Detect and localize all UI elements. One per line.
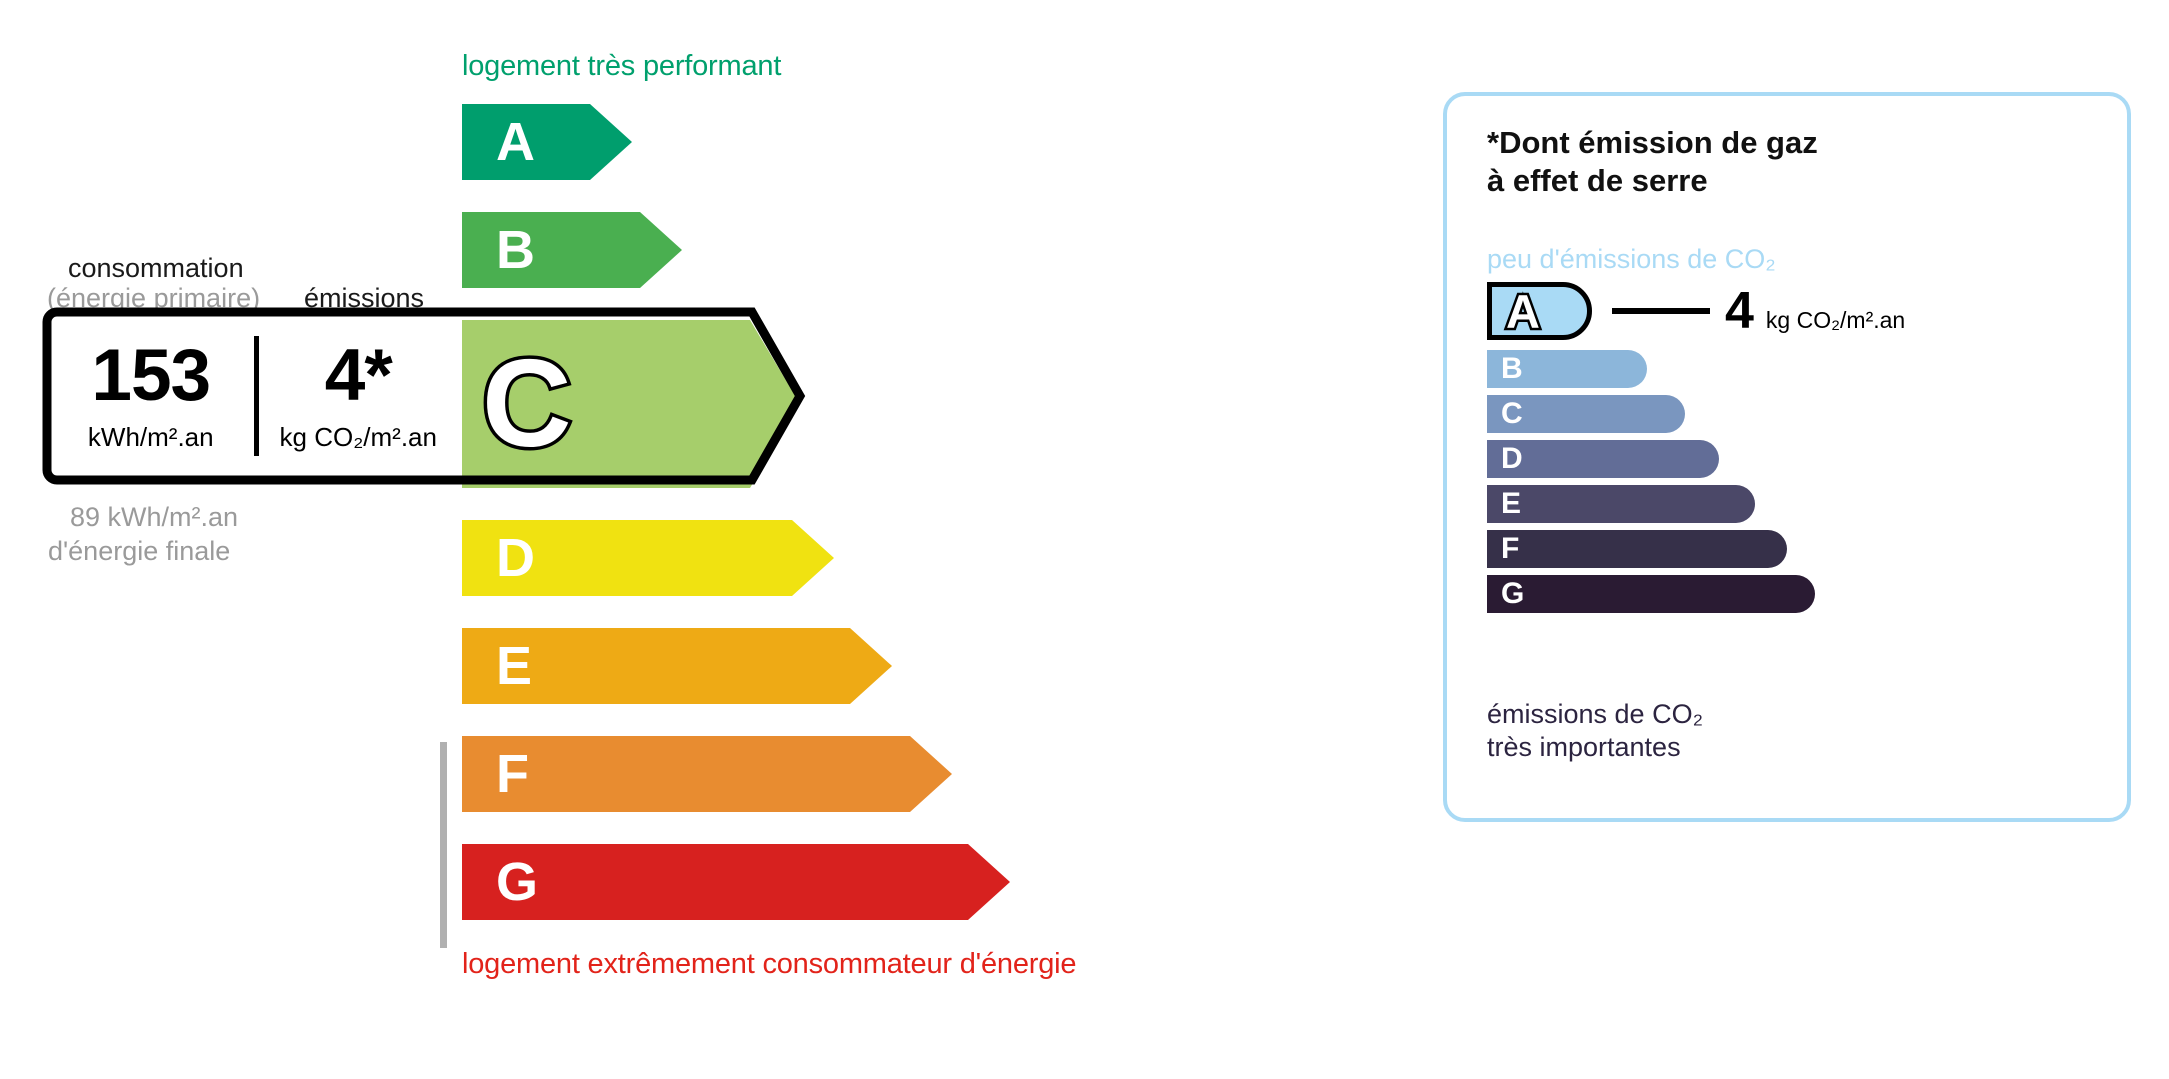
co2-letter-f: F (1501, 534, 1519, 564)
co2-row-f: F (1487, 530, 1815, 568)
energy-row-d: D (462, 520, 1010, 596)
co2-bottom-caption-line2: très importantes (1487, 731, 1703, 764)
final-energy-note-line1: 89 kWh/m².an (70, 500, 238, 534)
co2-row-b: B (1487, 350, 1815, 388)
co2-row-c: C (1487, 395, 1815, 433)
energy-arrow-d: D (462, 520, 834, 596)
consumption-header-line1: consommation (68, 253, 244, 284)
emissions-cell: 4* kg CO₂/m².an (255, 312, 463, 480)
co2-letter-g: G (1501, 579, 1524, 609)
co2-bar-d: D (1487, 440, 1719, 478)
energy-arrow-c: C (462, 320, 800, 488)
emissions-value: 4* (325, 339, 392, 412)
emissions-header: émissions (304, 283, 424, 314)
co2-bottom-caption: émissions de CO₂ très importantes (1487, 698, 1703, 765)
energy-row-e: E (462, 628, 1010, 704)
co2-row-g: G (1487, 575, 1815, 613)
co2-title-line2: à effet de serre (1487, 162, 1818, 200)
co2-bar-b: B (1487, 350, 1647, 388)
energy-letter-b: B (496, 223, 535, 277)
energy-performance-panel: logement très performant consommation (é… (0, 0, 1400, 1079)
energy-letter-f: F (496, 747, 529, 801)
final-energy-note: 89 kWh/m².an d'énergie finale (48, 500, 238, 568)
co2-row-a: A4kg CO₂/m².an (1487, 282, 1815, 340)
co2-bar-e: E (1487, 485, 1755, 523)
co2-letter-b: B (1501, 354, 1523, 384)
energy-arrow-g: G (462, 844, 1010, 920)
energy-row-c: C (462, 320, 1010, 488)
co2-letter-e: E (1501, 489, 1521, 519)
co2-panel: *Dont émission de gaz à effet de serre p… (1443, 92, 2131, 822)
co2-bar-g: G (1487, 575, 1815, 613)
co2-letter-c: C (1501, 399, 1523, 429)
co2-letter-d: D (1501, 444, 1523, 474)
co2-value-unit: kg CO₂/m².an (1766, 307, 1905, 334)
co2-leader-line (1612, 308, 1710, 314)
energy-arrow-f: F (462, 736, 952, 812)
passoire-bracket (440, 742, 447, 948)
energy-class-rows: ABCDEFG (462, 104, 1010, 920)
energy-row-f: F (462, 736, 1010, 812)
co2-bar-c: C (1487, 395, 1685, 433)
dpe-diagram: logement très performant consommation (é… (0, 0, 2169, 1079)
energy-row-g: G (462, 844, 1010, 920)
energy-letter-a: A (496, 115, 535, 169)
value-box: 153 kWh/m².an 4* kg CO₂/m².an (47, 312, 462, 480)
final-energy-note-line2: d'énergie finale (48, 536, 230, 566)
co2-row-d: D (1487, 440, 1815, 478)
energy-letter-c: C (482, 342, 572, 466)
consumption-unit: kWh/m².an (88, 422, 214, 453)
co2-class-rows: A4kg CO₂/m².anBCDEFG (1487, 282, 1815, 620)
consumption-value: 153 (91, 339, 210, 412)
energy-letter-g: G (496, 855, 538, 909)
emissions-unit: kg CO₂/m².an (280, 422, 437, 453)
co2-value-number: 4 (1725, 285, 1754, 337)
energy-letter-e: E (496, 639, 532, 693)
co2-active-badge: A (1487, 282, 1592, 340)
consumption-cell: 153 kWh/m².an (47, 312, 255, 480)
co2-letter-a: A (1506, 288, 1540, 335)
co2-title-line1: *Dont émission de gaz (1487, 124, 1818, 162)
co2-bottom-caption-line1: émissions de CO₂ (1487, 698, 1703, 731)
consumption-header-line2: (énergie primaire) (47, 283, 260, 314)
energy-top-caption: logement très performant (462, 50, 781, 83)
energy-row-a: A (462, 104, 1010, 180)
co2-value-callout: 4kg CO₂/m².an (1725, 285, 1905, 337)
energy-arrow-a: A (462, 104, 632, 180)
energy-arrow-b: B (462, 212, 682, 288)
co2-panel-title: *Dont émission de gaz à effet de serre (1487, 124, 1818, 200)
co2-bar-f: F (1487, 530, 1787, 568)
energy-letter-d: D (496, 531, 535, 585)
energy-row-b: B (462, 212, 1010, 288)
co2-row-e: E (1487, 485, 1815, 523)
co2-top-caption: peu d'émissions de CO₂ (1487, 244, 1776, 275)
energy-bottom-caption: logement extrêmement consommateur d'éner… (462, 948, 1076, 981)
energy-arrow-e: E (462, 628, 892, 704)
